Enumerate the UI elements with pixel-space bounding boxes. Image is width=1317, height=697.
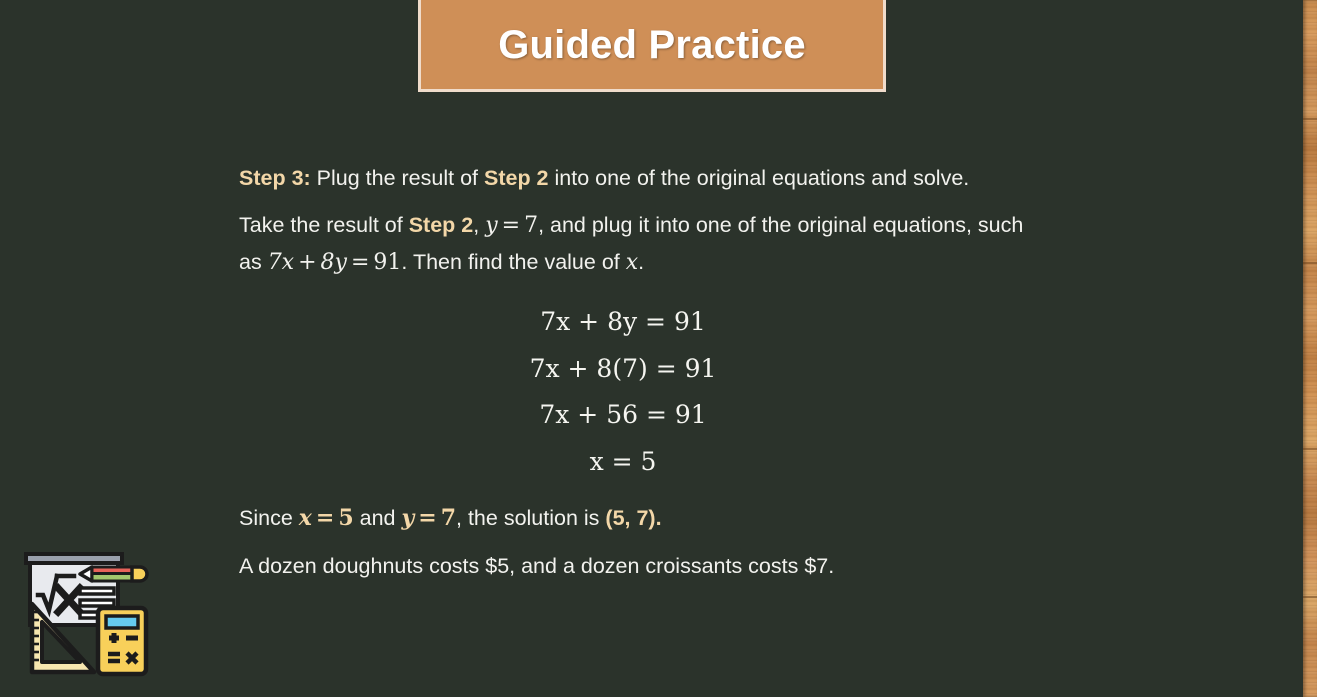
step3-text-2: into one of the original equations and s… bbox=[549, 166, 970, 190]
conclusion-block: Since x=5 and y=7, the solution is (5, 7… bbox=[239, 499, 1029, 585]
display-equation-block: 7x + 8y = 91 7x + 8(7) = 91 7x + 56 = 91… bbox=[239, 299, 1029, 485]
math-equals-1: = bbox=[498, 213, 524, 238]
inline-math-x-equals-5: x=5 bbox=[299, 505, 354, 531]
math-value-5: 5 bbox=[338, 505, 353, 531]
inline-math-y-equals-7-2: y=7 bbox=[401, 505, 456, 531]
math-term-8y: 8y bbox=[321, 250, 347, 275]
take-text-5: . bbox=[638, 250, 644, 274]
step3-text-1: Plug the result of bbox=[311, 166, 484, 190]
math-value-7: 7 bbox=[524, 213, 538, 238]
take-text-4: . Then find the value of bbox=[401, 250, 625, 274]
paragraph-step3: Step 3: Plug the result of Step 2 into o… bbox=[239, 160, 1029, 197]
math-whiteboard-calculator-icon bbox=[18, 548, 154, 680]
math-var-x-2: x bbox=[299, 505, 312, 531]
conclusion-text-1: Since bbox=[239, 506, 299, 530]
slide-content: Step 3: Plug the result of Step 2 into o… bbox=[239, 160, 1029, 585]
math-value-7-2: 7 bbox=[441, 505, 456, 531]
step3-step2-ref: Step 2 bbox=[484, 166, 549, 190]
wood-texture-strip bbox=[1303, 0, 1317, 697]
equation-2: 7x + 8(7) = 91 bbox=[239, 346, 1029, 393]
inline-math-7x-plus-8y: 7x+8y=91 bbox=[268, 250, 402, 275]
equation-3: 7x + 56 = 91 bbox=[239, 392, 1029, 439]
step3-label: Step 3: bbox=[239, 166, 311, 190]
equation-4: x = 5 bbox=[239, 439, 1029, 486]
conclusion-text-3: , the solution is bbox=[456, 506, 605, 530]
take-step2-ref: Step 2 bbox=[409, 213, 474, 237]
math-value-91: 91 bbox=[373, 250, 401, 275]
conclusion-text-2: and bbox=[354, 506, 402, 530]
math-equals-3: = bbox=[312, 505, 338, 531]
paragraph-solution: Since x=5 and y=7, the solution is (5, 7… bbox=[239, 499, 1029, 537]
take-text-1: Take the result of bbox=[239, 213, 409, 237]
take-text-2: , bbox=[473, 213, 485, 237]
inline-math-x: x bbox=[626, 250, 638, 275]
inline-math-y-equals-7: y=7 bbox=[485, 213, 538, 238]
math-var-y: y bbox=[485, 213, 497, 238]
paragraph-take-result: Take the result of Step 2, y=7, and plug… bbox=[239, 207, 1029, 281]
math-equals-2: = bbox=[347, 250, 373, 275]
page-title: Guided Practice bbox=[498, 17, 806, 68]
paragraph-final-answer: A dozen doughnuts costs $5, and a dozen … bbox=[239, 547, 1029, 585]
math-term-7x: 7x bbox=[268, 250, 294, 275]
math-equals-4: = bbox=[414, 505, 440, 531]
slide-title-banner: Guided Practice bbox=[418, 0, 886, 92]
math-var-y-2: y bbox=[401, 505, 414, 531]
equation-1: 7x + 8y = 91 bbox=[239, 299, 1029, 346]
math-plus-1: + bbox=[294, 250, 320, 275]
solution-pair: (5, 7). bbox=[605, 506, 661, 530]
slide-canvas: Guided Practice Step 3: Plug the result … bbox=[0, 0, 1317, 697]
